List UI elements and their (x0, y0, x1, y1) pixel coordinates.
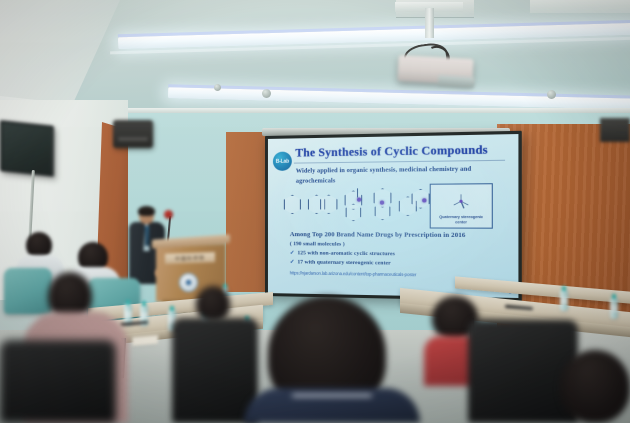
quaternary-center-box: Quaternary stereogenic center (430, 183, 493, 229)
slide-divider (294, 160, 505, 164)
chair-black (172, 318, 258, 423)
bicyclic-ring-bottom-icon (375, 203, 391, 221)
stereocenter-dot (380, 201, 384, 205)
sprinkler-icon (262, 89, 271, 98)
stats-bullet-1: ✓125 with non-aromatic cyclic structures (290, 250, 501, 258)
wall-trim (118, 108, 630, 113)
sprinkler-icon (214, 84, 221, 91)
university-emblem-icon: ❁ (179, 273, 198, 292)
chair-teal (4, 268, 52, 314)
lecture-hall-photo: B-Lab The Synthesis of Cyclic Compounds … (0, 0, 630, 423)
benzene-ring-icon (284, 195, 301, 214)
audience-head (196, 286, 230, 322)
slide-statistics: Among Top 200 Brand Name Drugs by Prescr… (290, 231, 501, 267)
water-bottle (560, 290, 568, 311)
bond-line (357, 188, 358, 197)
foreground-audience-head (560, 350, 630, 423)
microphone-head (164, 210, 173, 219)
stats-subheading: ( 190 small molecules ) (290, 241, 501, 249)
projection-screen: B-Lab The Synthesis of Cyclic Compounds … (265, 131, 522, 301)
quaternary-center-label: Quaternary stereogenic center (433, 215, 490, 224)
slide-source-url: https://njardarson.lab.arizona.edu/conte… (290, 270, 417, 277)
wood-panel-middle (226, 132, 270, 292)
check-icon: ✓ (290, 259, 295, 265)
podium-nameplate: 中国科学院 (165, 252, 215, 264)
slide-title: The Synthesis of Cyclic Compounds (268, 144, 518, 160)
projector-mount-pole (425, 8, 434, 38)
presenter-hair (138, 206, 155, 216)
stats-bullet-2: ✓17 with quaternary stereogenic center (290, 259, 501, 268)
wall-display (0, 120, 54, 177)
stats-heading: Among Top 200 Brand Name Drugs by Prescr… (290, 231, 501, 239)
water-bottle (610, 298, 618, 319)
stats-bullet-1-text: 125 with non-aromatic cyclic structures (297, 250, 394, 257)
naphthalene-ring-b-icon (320, 195, 337, 214)
wall-speaker-right (600, 118, 630, 142)
polo-collar (292, 394, 372, 397)
chair-black (468, 320, 578, 423)
slide-content: B-Lab The Synthesis of Cyclic Compounds … (268, 134, 518, 298)
check-icon: ✓ (290, 250, 295, 256)
quaternary-center-diagram (451, 193, 471, 210)
stereocenter-dot (422, 198, 426, 202)
chair-black-foreground (0, 340, 116, 423)
wall-speaker-left (113, 120, 153, 148)
chemical-structures (284, 186, 450, 224)
stats-bullet-2-text: 17 with quaternary stereogenic center (297, 259, 390, 266)
stereocenter-dot (357, 198, 361, 202)
foreground-audience-polo (244, 388, 420, 423)
presenter-tie (145, 226, 149, 246)
ceiling-vent-secondary (530, 0, 630, 13)
sprinkler-icon (547, 90, 556, 99)
